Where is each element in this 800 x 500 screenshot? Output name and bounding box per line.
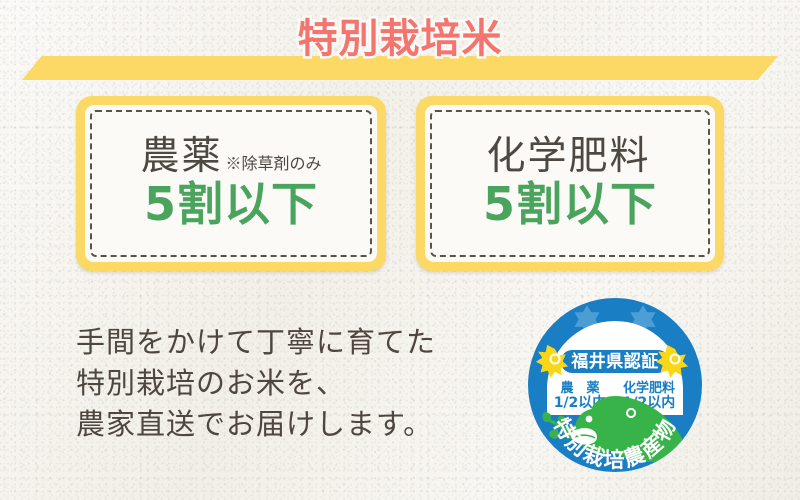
body-copy-line-2: 特別栽培のお米を、 [76, 363, 506, 404]
page-title: 特別栽培米 [0, 6, 800, 64]
body-copy-line-3: 農家直送でお届けします。 [76, 404, 506, 445]
card-content: 農薬 ※除草剤のみ 5割以下 [85, 105, 377, 262]
poster-canvas: 特別栽培米 農薬 ※除草剤のみ 5割以下 化学肥料 5割以下 [0, 0, 800, 500]
card-value: 5割以下 [144, 180, 318, 230]
seal-item-1-label: 化学肥料 [623, 380, 675, 396]
body-copy: 手間をかけて丁寧に育てた 特別栽培のお米を、 農家直送でお届けします。 [76, 322, 506, 446]
card-heading-row: 化学肥料 [486, 137, 653, 176]
card-value: 5割以下 [483, 180, 657, 230]
card-heading: 化学肥料 [486, 137, 650, 176]
body-copy-line-1: 手間をかけて丁寧に育てた [76, 322, 506, 363]
card-heading-row: 農薬 ※除草剤のみ [140, 137, 321, 176]
seal-band-title: 福井県認証 [570, 351, 659, 372]
seal-item-0-label: 農 薬 [560, 380, 600, 396]
card-inner: 化学肥料 5割以下 [425, 105, 715, 262]
card-pesticide: 農薬 ※除草剤のみ 5割以下 [76, 96, 386, 271]
card-content: 化学肥料 5割以下 [425, 105, 715, 262]
seal-graphic: 福井県認証 農 薬 1/2以内 化学肥料 1/2以内 [527, 297, 703, 473]
certification-seal: 福井県認証 農 薬 1/2以内 化学肥料 1/2以内 [527, 297, 703, 473]
card-note: ※除草剤のみ [226, 150, 322, 174]
card-inner: 農薬 ※除草剤のみ 5割以下 [85, 105, 377, 262]
card-chemical-fertilizer: 化学肥料 5割以下 [416, 96, 724, 271]
card-heading: 農薬 [140, 137, 222, 176]
